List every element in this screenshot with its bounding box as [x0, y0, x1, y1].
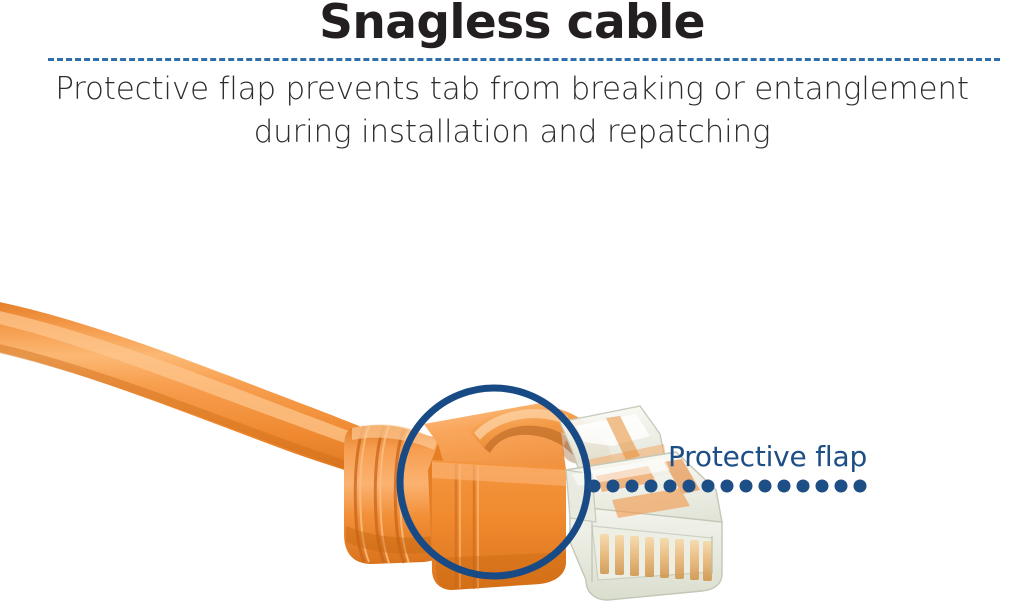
dashed-rule-icon — [48, 58, 1000, 61]
product-feature-graphic: Snagless cable Protective flap prevents … — [0, 0, 1024, 616]
subtitle: Protective flap prevents tab from breaki… — [40, 68, 984, 154]
header-block: Snagless cable Protective flap prevents … — [0, 0, 1024, 170]
product-photo-area — [0, 170, 1024, 616]
page-title: Snagless cable — [0, 0, 1024, 54]
subtitle-line-1: Protective flap prevents tab from breaki… — [40, 68, 984, 111]
subtitle-line-2: during installation and repatching — [40, 111, 984, 154]
rj45-clear-plug — [566, 452, 722, 600]
cable-photo — [0, 170, 1024, 616]
cable-jacket — [0, 300, 396, 486]
callout-label: Protective flap — [668, 440, 867, 473]
